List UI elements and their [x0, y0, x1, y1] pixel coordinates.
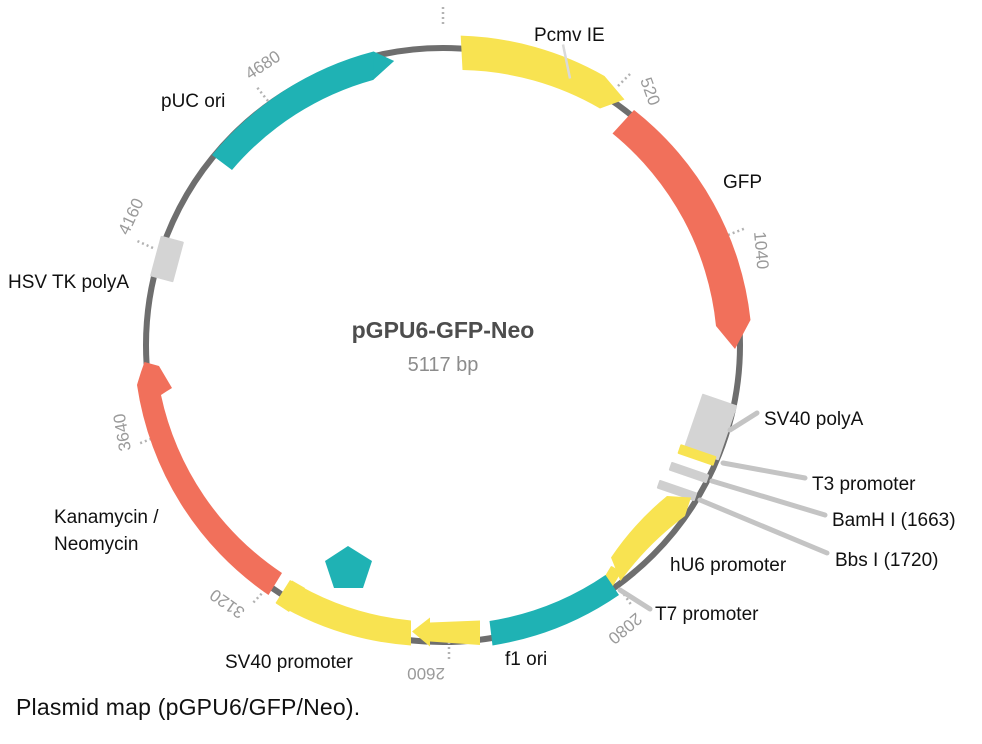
tick-label-1040: 1040 — [750, 231, 772, 270]
figure-caption: Plasmid map (pGPU6/GFP/Neo). — [16, 694, 360, 721]
feature-bamhi-bar[interactable] — [669, 462, 710, 484]
feature-f1-ori-band[interactable] — [490, 575, 620, 646]
feature-pcmv-ie-arrow[interactable] — [461, 36, 625, 109]
label-t7-promoter: T7 promoter — [655, 604, 759, 625]
label-hu6-promoter: hU6 promoter — [670, 555, 787, 576]
feature-hsv-tk-polya[interactable] — [150, 236, 184, 283]
tick-label-4160: 4160 — [114, 195, 147, 237]
feature-kanamycin-neomycin-arrow[interactable] — [137, 362, 282, 595]
label-sv40-promoter: SV40 promoter — [225, 652, 353, 673]
label-bbsi: Bbs I (1720) — [835, 550, 939, 571]
feature-f1-ori[interactable] — [490, 575, 620, 646]
plasmid-length: 5117 bp — [408, 354, 479, 376]
tick-label-2600: 2600 — [407, 664, 445, 683]
feature-puc-ori[interactable] — [212, 52, 394, 171]
feature-sv40-promoter[interactable] — [276, 580, 412, 646]
feature-kanamycin-neomycin[interactable] — [137, 362, 282, 595]
label-hsv-tk-polya: HSV TK polyA — [8, 272, 129, 293]
feature-hsv-tk-polya-box[interactable] — [150, 236, 184, 283]
tick-label-2080: 2080 — [604, 609, 645, 648]
label-t3-promoter: T3 promoter — [812, 474, 916, 495]
label-pcmv-ie: Pcmv IE — [534, 25, 605, 46]
tick-3120 — [252, 590, 265, 604]
feature-puc-ori-band[interactable] — [212, 52, 394, 171]
label-puc-ori: pUC ori — [161, 91, 225, 112]
tick-520 — [618, 72, 632, 86]
label-f1-ori: f1 ori — [505, 649, 547, 670]
tick-label-4680: 4680 — [242, 47, 284, 84]
feature-pcmv-ie[interactable] — [461, 36, 625, 109]
plasmid-diagram: 520 1040 2080 2600 3120 3640 4160 4680 — [0, 0, 982, 690]
tick-label-520: 520 — [636, 75, 664, 108]
feature-gfp-arrow[interactable] — [613, 110, 751, 349]
label-gfp: GFP — [723, 172, 762, 193]
tick-label-3120: 3120 — [206, 585, 248, 622]
label-bamhi: BamH I (1663) — [832, 510, 956, 531]
pentagon-marker-shape[interactable] — [325, 546, 372, 588]
label-sv40-polya: SV40 polyA — [764, 409, 864, 430]
leader-t7-promoter — [620, 590, 650, 609]
tick-4160 — [135, 240, 153, 248]
plasmid-name: pGPU6-GFP-Neo — [352, 317, 535, 343]
label-kanamycin-line2: Neomycin — [54, 534, 138, 555]
tick-label-3640: 3640 — [110, 412, 135, 453]
leader-t3-promoter — [723, 463, 805, 478]
plasmid-map: 520 1040 2080 2600 3120 3640 4160 4680 — [0, 0, 982, 690]
feature-unlabeled-pentagon-marker[interactable] — [325, 546, 372, 588]
feature-labels: Pcmv IE GFP SV40 polyA T3 promoter BamH … — [8, 25, 956, 673]
feature-bamhi-site[interactable] — [669, 462, 710, 484]
tick-1040 — [728, 228, 746, 235]
label-kanamycin-line1: Kanamycin / — [54, 507, 159, 528]
tick-4680 — [256, 86, 268, 101]
center-annotation: pGPU6-GFP-Neo 5117 bp — [352, 317, 535, 376]
feature-gfp[interactable] — [613, 110, 751, 349]
